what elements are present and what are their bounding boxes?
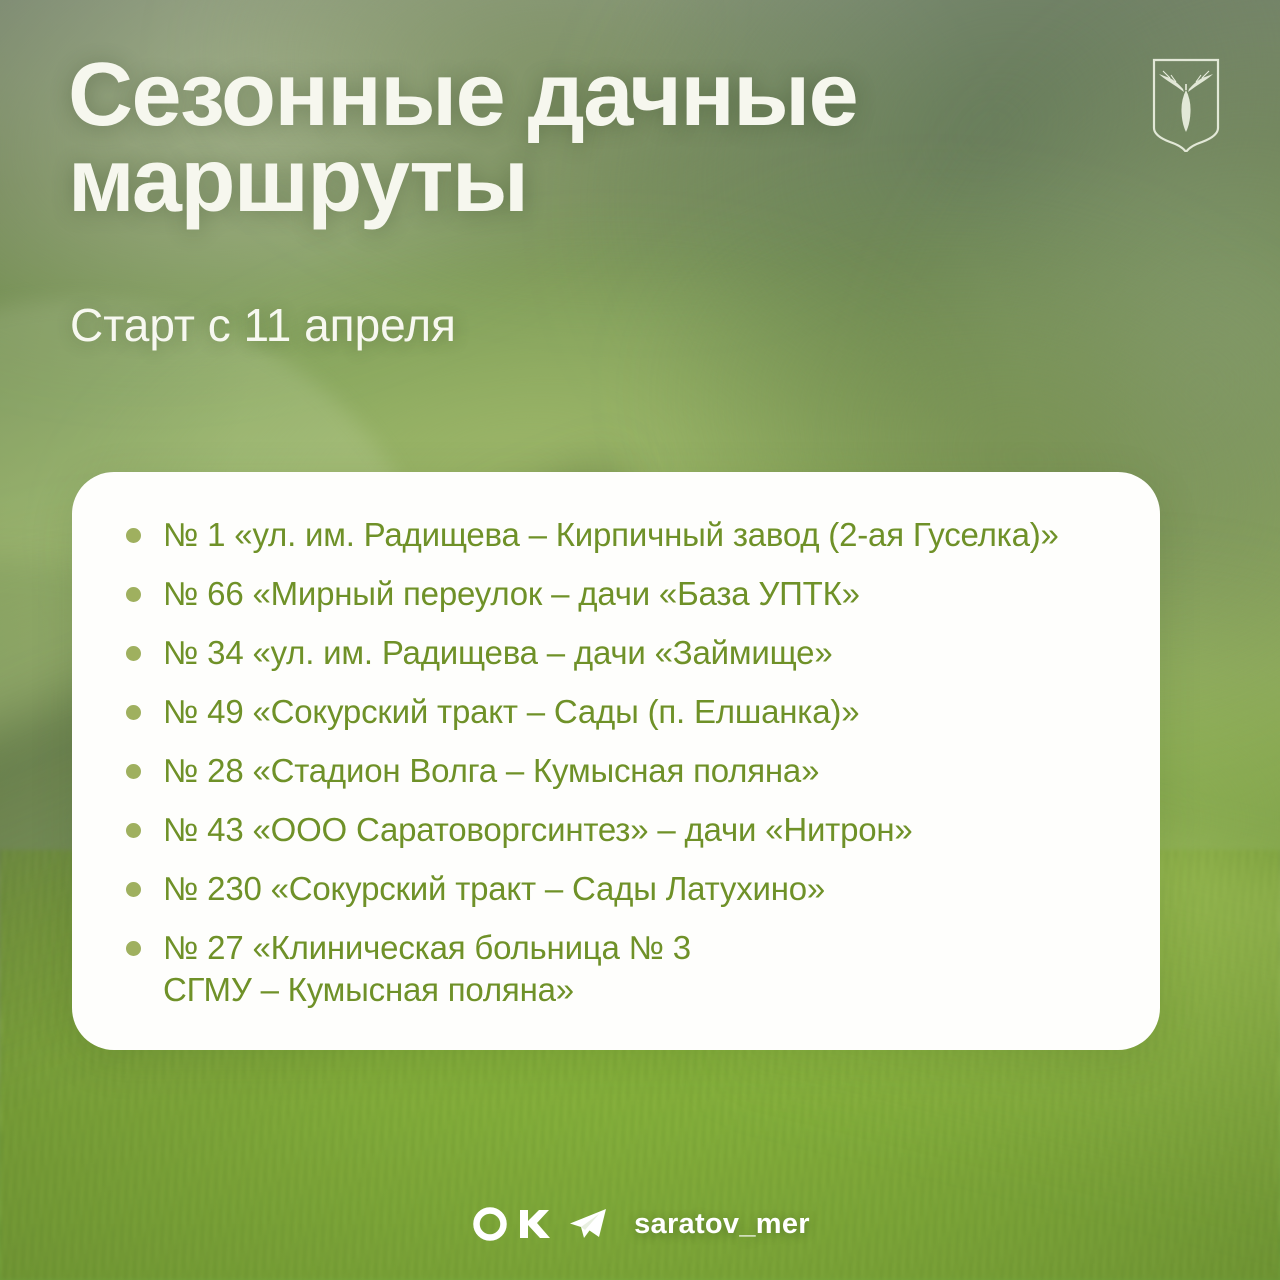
ok-icon[interactable] (470, 1204, 510, 1244)
bullet-icon (126, 764, 141, 779)
bullet-icon (126, 941, 141, 956)
route-label: № 49 «Сокурский тракт – Сады (п. Елшанка… (163, 691, 1120, 733)
list-item: № 27 «Клиническая больница № 3 СГМУ – Ку… (112, 927, 1120, 1010)
list-item: № 28 «Стадион Волга – Кумысная поляна» (112, 750, 1120, 792)
telegram-icon[interactable] (566, 1204, 610, 1244)
list-item: № 43 «ООО Саратоворгсинтез» – дачи «Нитр… (112, 809, 1120, 851)
route-label: № 34 «ул. им. Радищева – дачи «Займище» (163, 632, 1120, 674)
page-title: Сезонные дачные маршруты (68, 52, 1088, 225)
routes-card: № 1 «ул. им. Радищева – Кирпичный завод … (72, 472, 1160, 1050)
footer-social-bar: saratov_mer (0, 1204, 1280, 1244)
bullet-icon (126, 587, 141, 602)
page-subtitle: Старт с 11 апреля (70, 298, 456, 352)
route-label: № 66 «Мирный переулок – дачи «База УПТК» (163, 573, 1120, 615)
poster-canvas: Сезонные дачные маршруты Старт с 11 апре… (0, 0, 1280, 1280)
bullet-icon (126, 646, 141, 661)
vk-icon[interactable] (514, 1204, 562, 1244)
route-label: № 28 «Стадион Волга – Кумысная поляна» (163, 750, 1120, 792)
route-label: № 27 «Клиническая больница № 3 СГМУ – Ку… (163, 927, 1120, 1010)
route-label: № 1 «ул. им. Радищева – Кирпичный завод … (163, 514, 1120, 556)
list-item: № 1 «ул. им. Радищева – Кирпичный завод … (112, 514, 1120, 556)
route-label: № 230 «Сокурский тракт – Сады Латухино» (163, 868, 1120, 910)
social-icon-group (470, 1204, 610, 1244)
list-item: № 66 «Мирный переулок – дачи «База УПТК» (112, 573, 1120, 615)
coat-of-arms-icon (1150, 56, 1222, 152)
bullet-icon (126, 823, 141, 838)
bullet-icon (126, 705, 141, 720)
list-item: № 49 «Сокурский тракт – Сады (п. Елшанка… (112, 691, 1120, 733)
list-item: № 230 «Сокурский тракт – Сады Латухино» (112, 868, 1120, 910)
bullet-icon (126, 528, 141, 543)
route-label: № 43 «ООО Саратоворгсинтез» – дачи «Нитр… (163, 809, 1120, 851)
list-item: № 34 «ул. им. Радищева – дачи «Займище» (112, 632, 1120, 674)
bullet-icon (126, 882, 141, 897)
routes-list: № 1 «ул. им. Радищева – Кирпичный завод … (112, 514, 1120, 1010)
social-handle[interactable]: saratov_mer (634, 1208, 810, 1241)
